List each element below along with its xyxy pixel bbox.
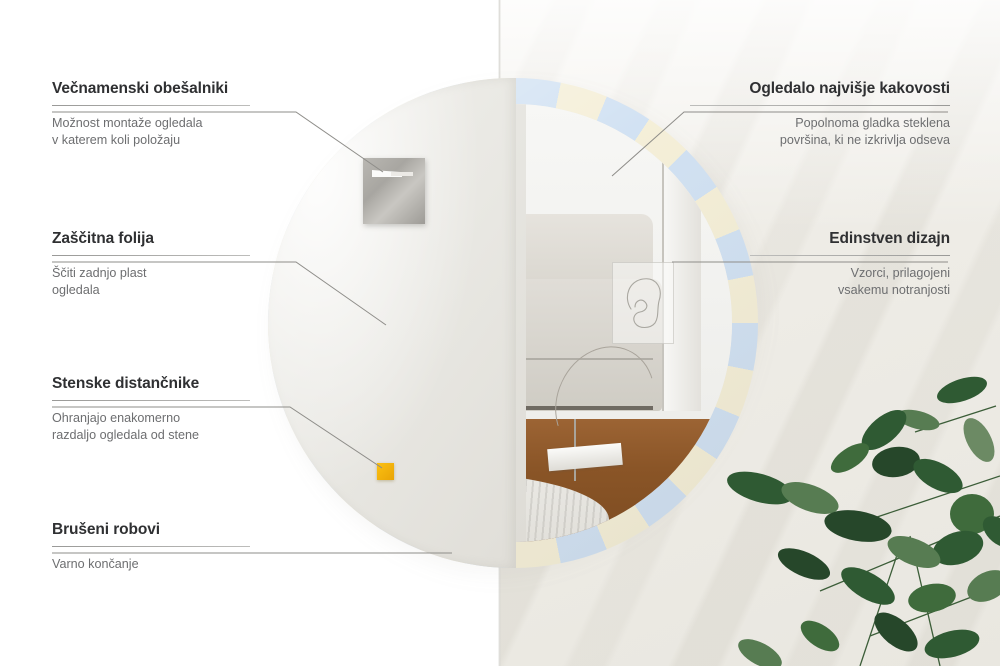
callout-edges-title: Brušeni robovi [52,521,412,538]
callout-quality-title: Ogledalo najvišje kakovosti [690,80,950,97]
callout-foil: Zaščitna folija Ščiti zadnjo plast ogled… [52,230,250,300]
callout-spacers-title: Stenske distančnike [52,375,250,392]
foliage-decoration [700,336,1000,666]
callout-hangers-description: Možnost montaže ogledala v katerem koli … [52,115,250,150]
callout-hangers: Večnamenski obešalniki Možnost montaže o… [52,80,250,150]
callout-edges: Brušeni robovi Varno končanje [52,521,412,573]
callout-foil-description: Ščiti zadnjo plast ogledala [52,265,250,300]
callout-quality: Ogledalo najvišje kakovosti Popolnoma gl… [690,80,950,150]
callout-quality-rule [690,105,950,106]
callout-edges-rule [52,546,250,547]
callout-design-description: Vzorci, prilagojeni vsakemu notranjosti [750,265,950,300]
callout-spacers-description: Ohranjajo enakomerno razdaljo ogledala o… [52,410,250,445]
infographic-canvas: Večnamenski obešalniki Možnost montaže o… [0,0,1000,666]
callout-quality-description: Popolnoma gladka steklena površina, ki n… [690,115,950,150]
callout-design-title: Edinstven dizajn [750,230,950,247]
callout-hangers-title: Večnamenski obešalniki [52,80,250,97]
callout-spacers: Stenske distančnike Ohranjajo enakomerno… [52,375,250,445]
callout-hangers-rule [52,105,250,106]
callout-foil-title: Zaščitna folija [52,230,250,247]
callout-spacers-rule [52,400,250,401]
callout-foil-rule [52,255,250,256]
callout-design-rule [750,255,950,256]
callout-edges-description: Varno končanje [52,556,412,573]
callout-design: Edinstven dizajn Vzorci, prilagojeni vsa… [750,230,950,300]
